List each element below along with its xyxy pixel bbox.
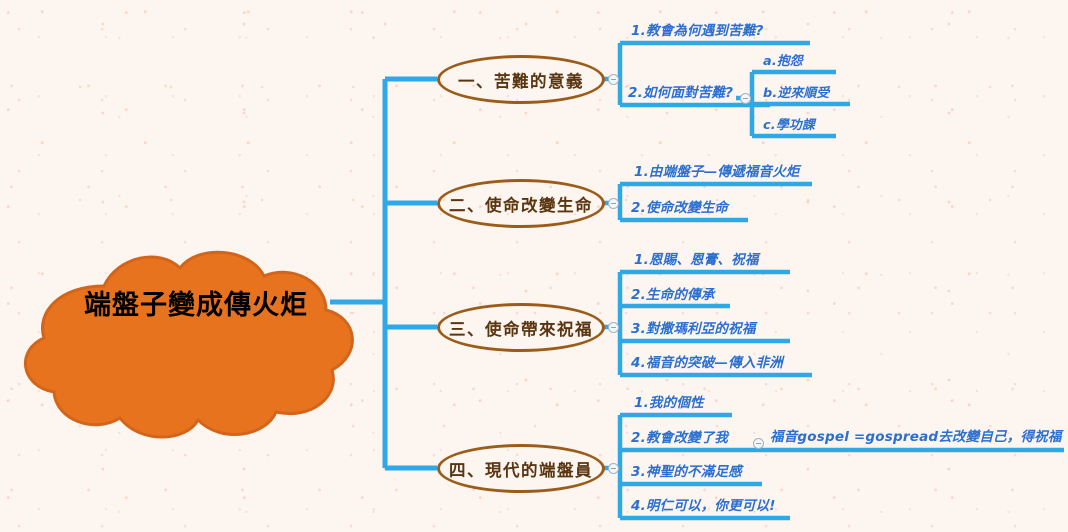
leaf-b4-c4[interactable]: 4.明仁可以，你更可以! — [631, 494, 776, 514]
leaf-b1-c2-a[interactable]: a.抱怨 — [763, 50, 803, 69]
leaf-b4-c2[interactable]: 2.教會改變了我 — [631, 426, 728, 446]
leaf-b3-c3[interactable]: 3.對撒瑪利亞的祝福 — [631, 317, 756, 337]
root-node-label: 端盤子變成傳火炬 — [8, 222, 378, 382]
leaf-b1-c2-c[interactable]: c.學功課 — [763, 114, 815, 133]
leaf-b1-c2[interactable]: 2.如何面對苦難? — [628, 81, 733, 101]
branch-node-2-label: 二、使命改變生命 — [449, 192, 593, 216]
leaf-b3-c1[interactable]: 1.恩賜、恩膏、祝福 — [634, 248, 759, 268]
branch-node-1[interactable]: 一、苦難的意義 — [437, 55, 605, 104]
branch-1-collapse-toggle[interactable] — [608, 74, 619, 85]
branch-node-2[interactable]: 二、使命改變生命 — [437, 179, 605, 228]
branch-4-collapse-toggle[interactable] — [608, 463, 619, 474]
leaf-b3-c4[interactable]: 4.福音的突破—傳入非洲 — [631, 351, 783, 371]
leaf-b1-c2-b[interactable]: b.逆來順受 — [763, 82, 829, 101]
branch-node-4-label: 四、現代的端盤員 — [449, 457, 593, 481]
branch-node-4[interactable]: 四、現代的端盤員 — [437, 444, 605, 493]
leaf-b4-c2-collapse-toggle[interactable] — [753, 438, 764, 449]
leaf-b4-c2-note[interactable]: 福音gospel =gospread去改變自己，得祝福 — [770, 425, 1062, 445]
branch-node-3-label: 三、使命帶來祝福 — [449, 316, 593, 340]
root-node[interactable]: 端盤子變成傳火炬 — [8, 222, 378, 382]
leaf-b2-c1[interactable]: 1.由端盤子—傳遞福音火炬 — [634, 160, 800, 180]
leaf-b3-c2[interactable]: 2.生命的傳承 — [631, 283, 714, 303]
leaf-b4-c3[interactable]: 3.神聖的不滿足感 — [631, 460, 742, 480]
mindmap-canvas: 端盤子變成傳火炬 一、苦難的意義 二、使命改變生命 三、使命帶來祝福 四、現代的… — [0, 0, 1068, 532]
leaf-b1-c1[interactable]: 1.教會為何遇到苦難? — [631, 19, 764, 39]
branch-node-1-label: 一、苦難的意義 — [458, 68, 584, 92]
branch-node-3[interactable]: 三、使命帶來祝福 — [437, 303, 605, 352]
leaf-b4-c1[interactable]: 1.我的個性 — [634, 391, 704, 411]
branch-2-collapse-toggle[interactable] — [608, 198, 619, 209]
leaf-b1-c2-collapse-toggle[interactable] — [740, 93, 751, 104]
leaf-b2-c2[interactable]: 2.使命改變生命 — [631, 196, 728, 216]
branch-3-collapse-toggle[interactable] — [608, 322, 619, 333]
